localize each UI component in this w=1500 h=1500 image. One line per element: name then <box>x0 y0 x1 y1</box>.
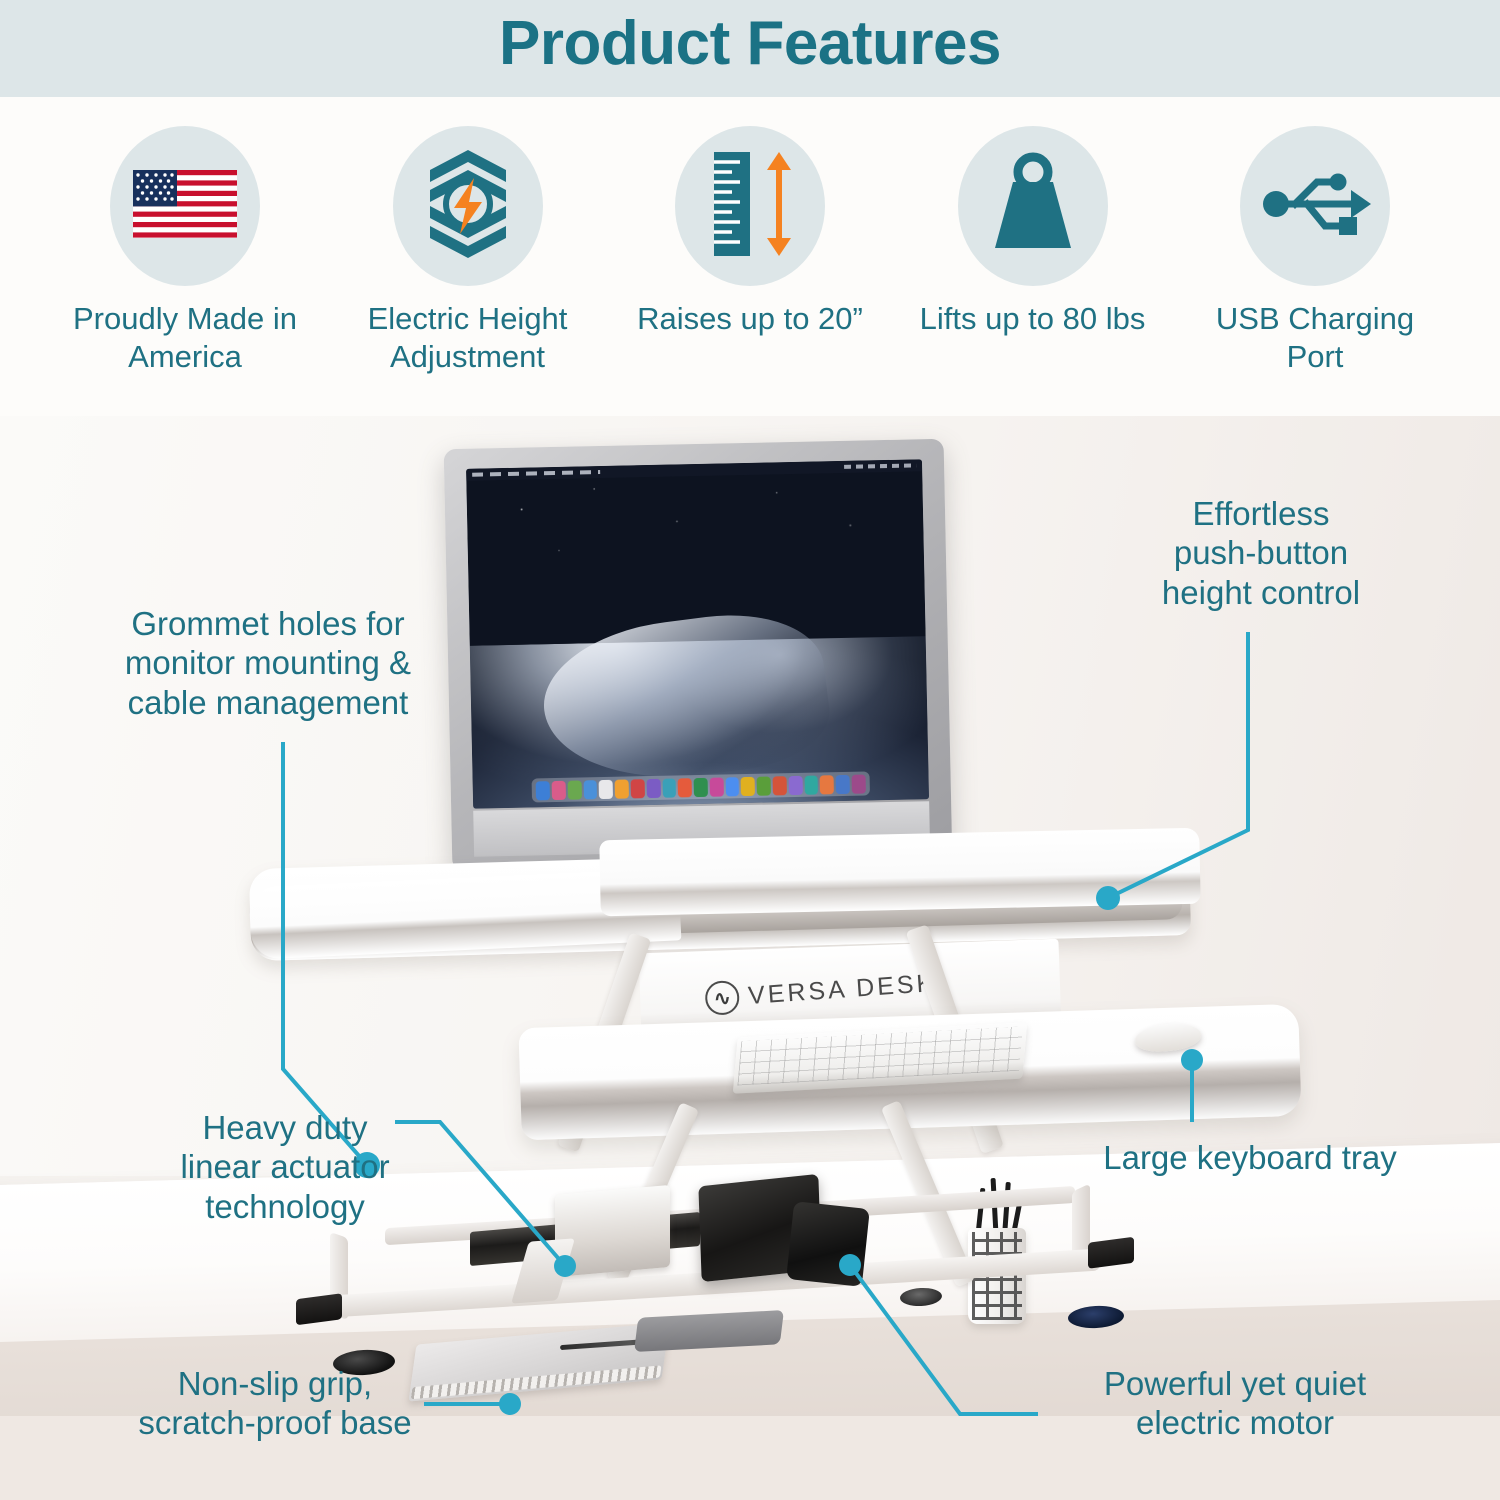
dock-icon[interactable] <box>631 779 645 798</box>
dock-icon[interactable] <box>851 774 865 793</box>
dock-icon[interactable] <box>552 780 566 799</box>
dock-icon[interactable] <box>583 780 597 799</box>
dock-icon[interactable] <box>536 781 550 800</box>
callout-linear-actuator: Heavy duty linear actuator technology <box>120 1108 450 1226</box>
menu-bar-status-icons <box>844 463 916 469</box>
keyboard-keys <box>737 1026 1022 1085</box>
dock-icon[interactable] <box>567 780 581 799</box>
non-slip-foot-cap <box>296 1293 342 1325</box>
electric-motor-head <box>786 1201 870 1287</box>
menu-bar-items <box>472 470 600 477</box>
feature-icon-circle <box>1240 126 1390 286</box>
dock-icon[interactable] <box>788 775 802 794</box>
feature-icon-circle <box>110 126 260 286</box>
feature-strip: Proudly Made in America Electric Height … <box>60 126 1440 416</box>
ruler-arrow-icon <box>702 148 798 265</box>
feature-icon-circle <box>393 126 543 286</box>
feature-label: Proudly Made in America <box>60 300 310 377</box>
dock-icon[interactable] <box>615 779 629 798</box>
imac-monitor <box>444 439 953 871</box>
callout-keyboard-tray: Large keyboard tray <box>1060 1138 1440 1177</box>
page-title: Product Features <box>0 8 1500 79</box>
feature-raises-height: Raises up to 20” <box>625 126 875 338</box>
dock-icon[interactable] <box>662 778 676 797</box>
dock-icon[interactable] <box>646 778 660 797</box>
dock-icon[interactable] <box>804 775 818 794</box>
brand-logo-icon: ∿ <box>704 980 740 1016</box>
weight-icon <box>983 152 1083 261</box>
feature-electric-height: Electric Height Adjustment <box>343 126 593 377</box>
callout-push-button-control: Effortless push-button height control <box>1096 494 1426 612</box>
dock-icon[interactable] <box>599 779 613 798</box>
feature-icon-circle <box>958 126 1108 286</box>
feature-label: Lifts up to 80 lbs <box>920 300 1146 338</box>
feature-label: Raises up to 20” <box>637 300 863 338</box>
electric-height-icon <box>420 148 516 265</box>
dock-icon[interactable] <box>820 775 834 794</box>
dock-icon[interactable] <box>773 776 787 795</box>
monitor-riser-shelf <box>599 828 1200 917</box>
feature-usb-port: USB Charging Port <box>1190 126 1440 377</box>
dock-icon[interactable] <box>836 774 850 793</box>
feature-icon-circle <box>675 126 825 286</box>
linear-actuator-block <box>555 1185 670 1277</box>
dock-icon[interactable] <box>757 776 771 795</box>
feature-lift-capacity: Lifts up to 80 lbs <box>908 126 1158 338</box>
callout-non-slip-base: Non-slip grip, scratch-proof base <box>100 1364 450 1443</box>
callout-electric-motor: Powerful yet quiet electric motor <box>1040 1364 1430 1443</box>
dock-icon[interactable] <box>678 778 692 797</box>
dock-icon[interactable] <box>725 777 739 796</box>
feature-label: Electric Height Adjustment <box>343 300 593 377</box>
monitor-screen <box>466 459 929 808</box>
dock-icon[interactable] <box>694 777 708 796</box>
usb-icon <box>1259 164 1371 249</box>
callout-grommet-holes: Grommet holes for monitor mounting & cab… <box>58 604 478 722</box>
usa-flag-icon <box>133 170 237 243</box>
dock-icon[interactable] <box>709 777 723 796</box>
feature-label: USB Charging Port <box>1190 300 1440 377</box>
dock-icon[interactable] <box>741 776 755 795</box>
feature-made-in-america: Proudly Made in America <box>60 126 310 377</box>
